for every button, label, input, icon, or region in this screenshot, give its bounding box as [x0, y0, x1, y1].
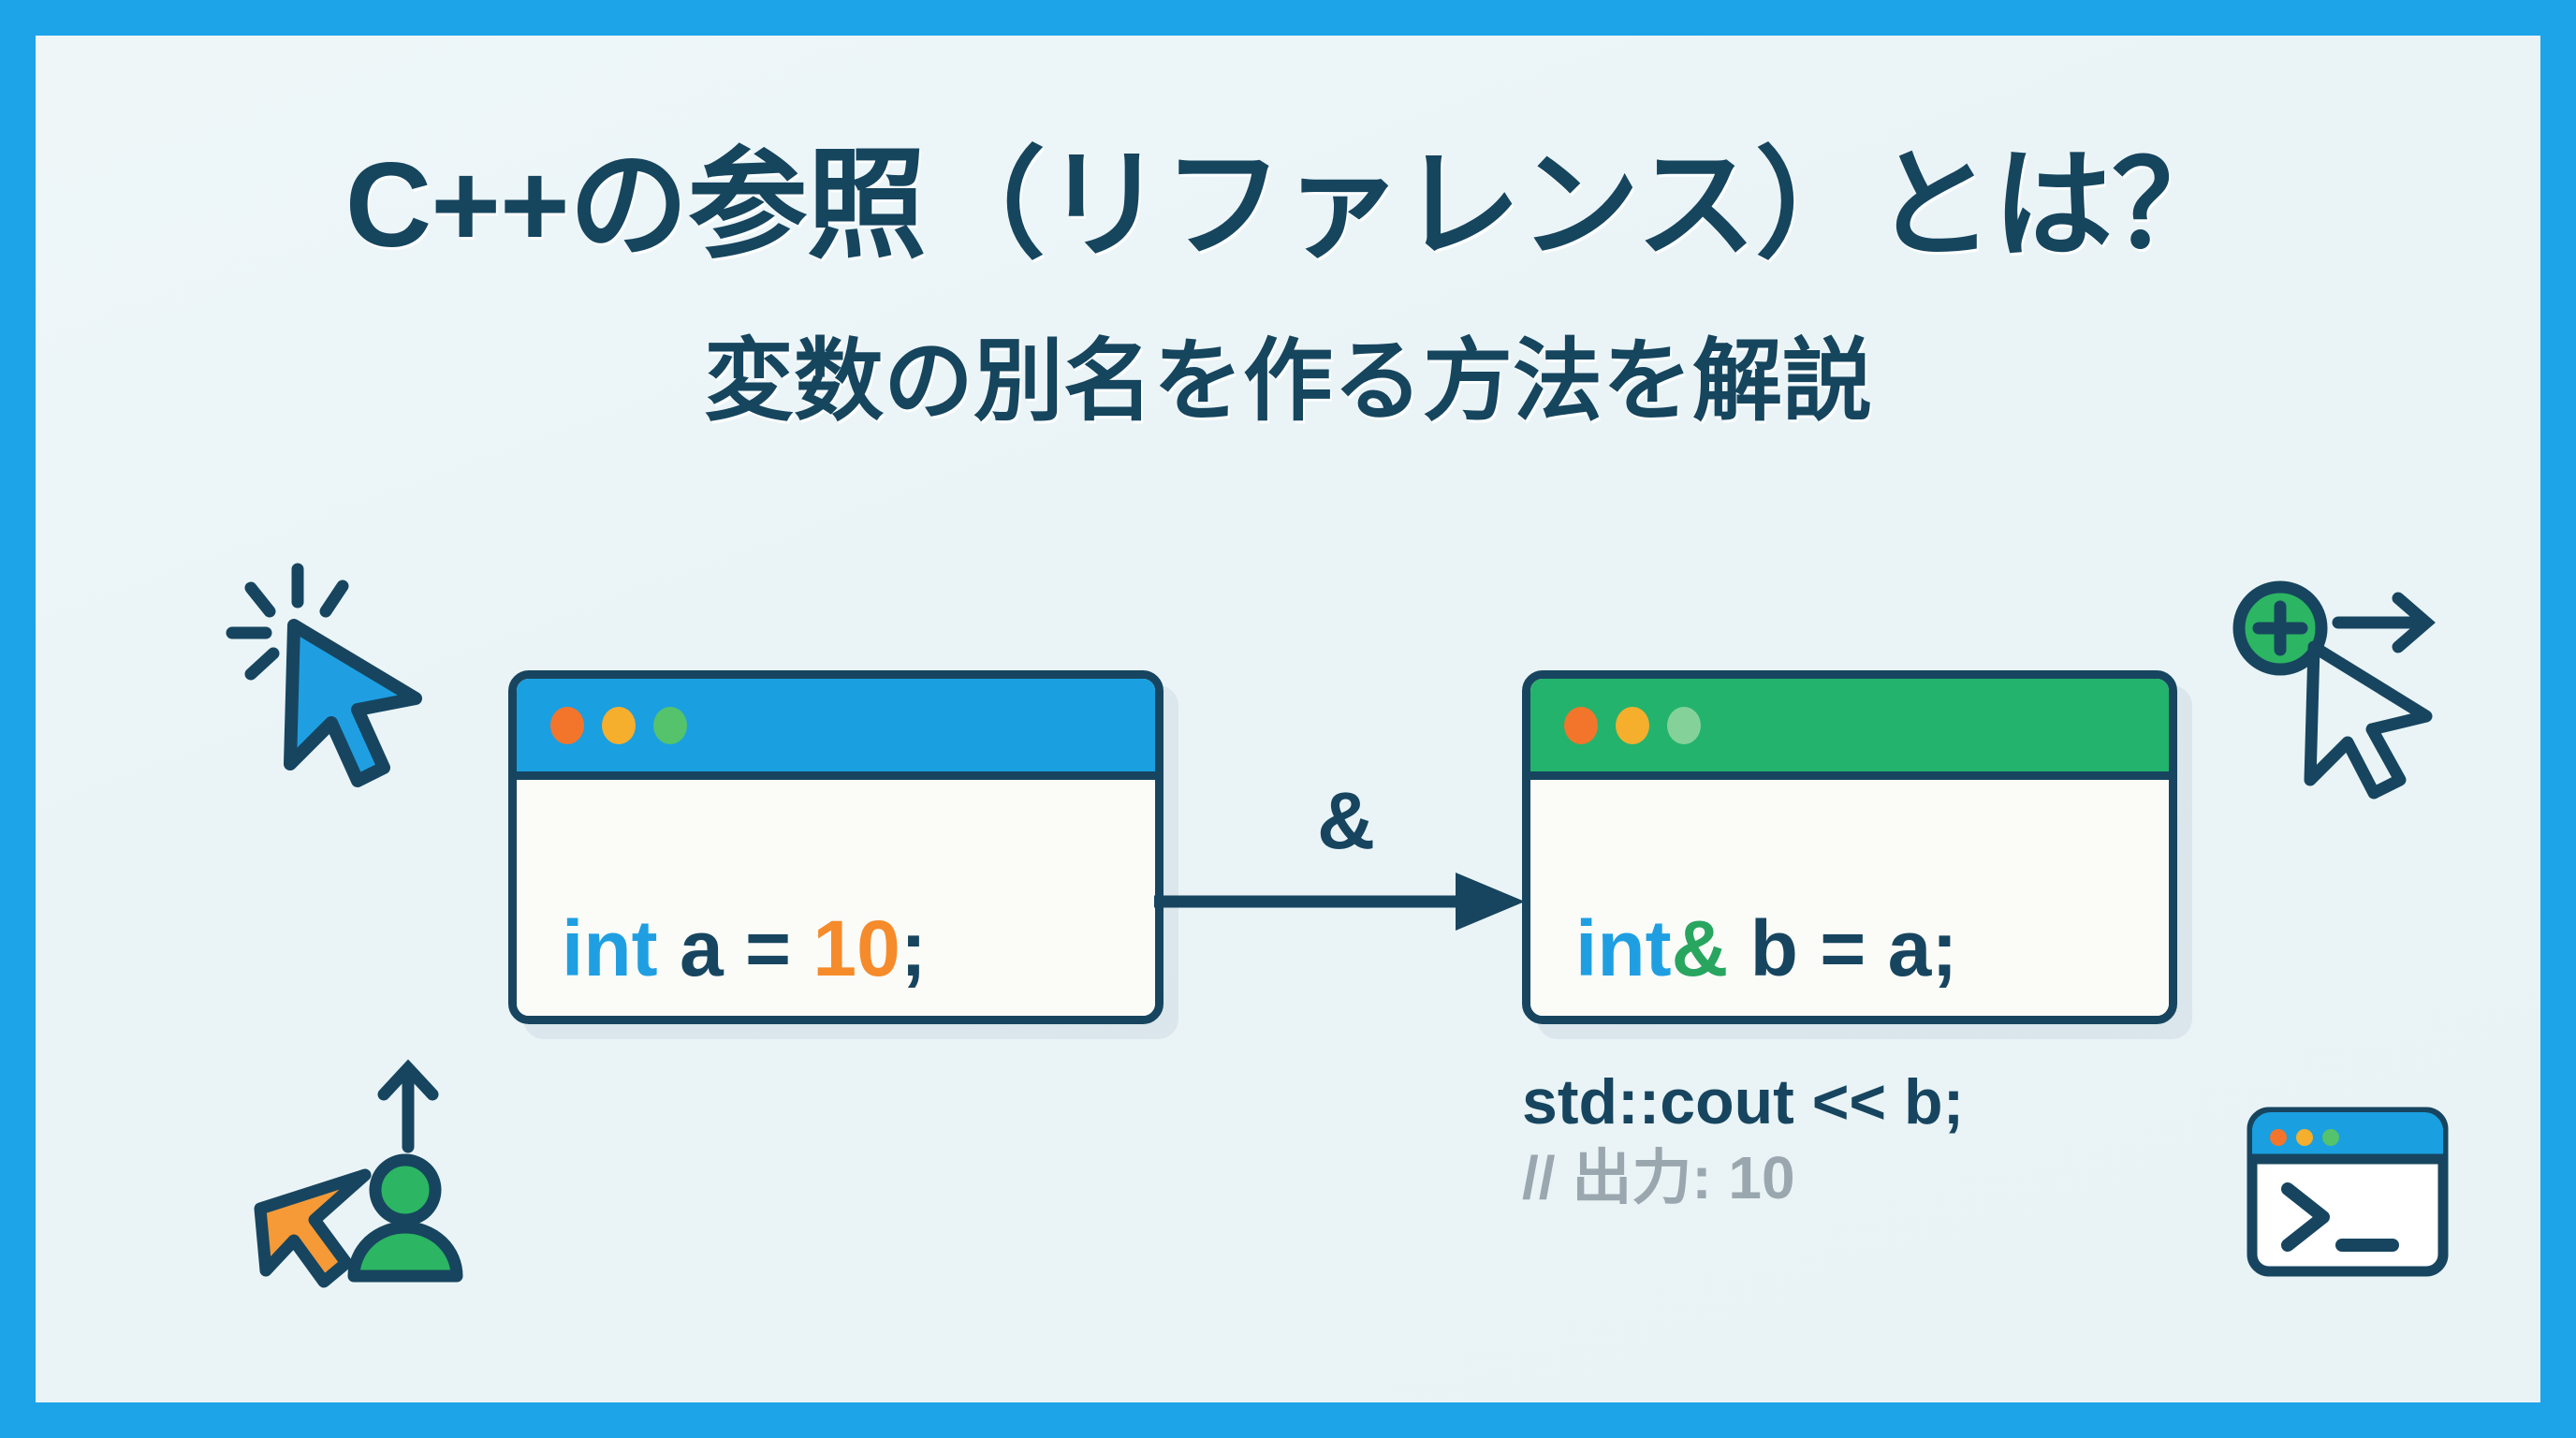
- code-window-left[interactable]: int a = 10;: [508, 670, 1164, 1024]
- code-token-value: 10: [812, 904, 900, 992]
- code-token-type: int: [562, 904, 658, 992]
- code-token-name: a =: [680, 904, 812, 992]
- page-title: C++の参照（リファレンス）とは？: [36, 146, 2540, 266]
- window-titlebar-right: [1530, 679, 2169, 780]
- code-token-ampersand: &: [1672, 904, 1729, 992]
- terminal-icon: [2245, 1103, 2451, 1281]
- page-subtitle: 変数の別名を作る方法を解説: [36, 337, 2540, 427]
- inner-panel: C++の参照（リファレンス）とは？ 変数の別名を作る方法を解説: [36, 36, 2540, 1402]
- window-titlebar-left: [517, 679, 1155, 780]
- code-token-semicolon: ;: [900, 904, 927, 992]
- code-line-right: int& b = a;: [1575, 909, 1957, 988]
- ampersand-label: &: [1271, 775, 1421, 868]
- add-cursor-icon: [2217, 565, 2497, 831]
- code-line-left: int a = 10;: [562, 909, 927, 988]
- user-cursor-icon: [204, 1042, 485, 1323]
- output-block: std::cout << b; // 出力: 10: [1522, 1065, 2233, 1214]
- click-cursor-icon: [193, 560, 446, 808]
- window-body-left: int a = 10;: [517, 780, 1155, 1024]
- code-token-space: [658, 904, 680, 992]
- window-dot-minimize-icon[interactable]: [1616, 707, 1649, 744]
- thumbnail-canvas: C++の参照（リファレンス）とは？ 変数の別名を作る方法を解説: [0, 0, 2576, 1438]
- window-dot-close-icon[interactable]: [550, 707, 584, 744]
- code-window-right[interactable]: int& b = a;: [1522, 670, 2177, 1024]
- window-dot-minimize-icon[interactable]: [602, 707, 636, 744]
- code-token-rest: b = a;: [1728, 904, 1957, 992]
- output-statement: std::cout << b;: [1522, 1065, 2233, 1138]
- window-dot-maximize-icon[interactable]: [1667, 707, 1701, 744]
- code-token-type: int: [1575, 904, 1672, 992]
- window-dot-close-icon[interactable]: [1564, 707, 1598, 744]
- window-body-right: int& b = a;: [1530, 780, 2169, 1024]
- output-comment: // 出力: 10: [1522, 1142, 2233, 1214]
- window-dot-maximize-icon[interactable]: [653, 707, 687, 744]
- reference-arrow-icon: [1154, 859, 1538, 944]
